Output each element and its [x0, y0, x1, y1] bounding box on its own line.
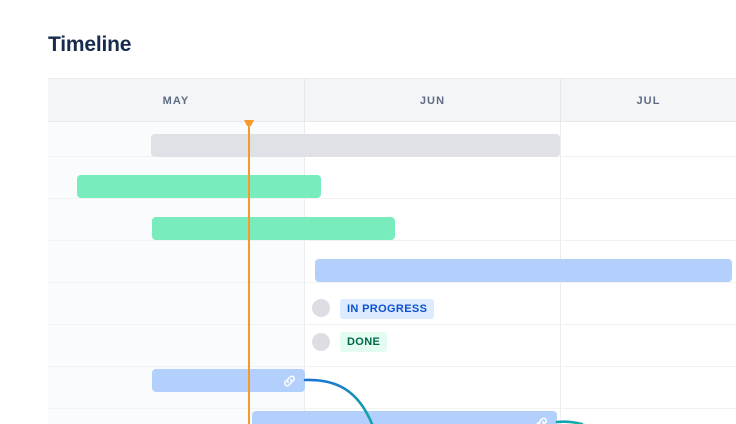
timeline-bar-6[interactable] — [252, 411, 557, 424]
today-marker[interactable] — [244, 120, 254, 424]
month-column-jul[interactable]: JUL — [560, 79, 736, 122]
timeline-bar-3[interactable] — [152, 217, 395, 240]
timeline-bar-5[interactable] — [152, 369, 305, 392]
row-divider — [48, 324, 736, 325]
link-icon[interactable] — [534, 415, 549, 424]
row-divider — [48, 408, 736, 409]
page-title: Timeline — [48, 31, 131, 59]
month-column-jun[interactable]: JUN — [304, 79, 560, 122]
row-divider — [48, 282, 736, 283]
status-badge-done[interactable]: DONE — [340, 332, 387, 352]
avatar[interactable] — [312, 333, 330, 351]
avatar[interactable] — [312, 299, 330, 317]
row-divider — [48, 240, 736, 241]
status-badge-in-progress[interactable]: IN PROGRESS — [340, 299, 434, 319]
timeline-page: Timeline MAY JUN JUL — [0, 0, 736, 424]
timeline-grid: IN PROGRESS DONE — [48, 122, 736, 424]
timeline-header: MAY JUN JUL — [48, 78, 736, 122]
timeline-bar-1[interactable] — [151, 134, 560, 157]
timeline-bar-2[interactable] — [77, 175, 321, 198]
today-marker-line — [248, 124, 250, 424]
row-divider — [48, 198, 736, 199]
timeline-bar-4[interactable] — [315, 259, 732, 282]
month-column-may[interactable]: MAY — [48, 79, 304, 122]
row-divider — [48, 366, 736, 367]
timeline-chart: MAY JUN JUL — [48, 78, 736, 424]
link-icon[interactable] — [282, 373, 297, 388]
